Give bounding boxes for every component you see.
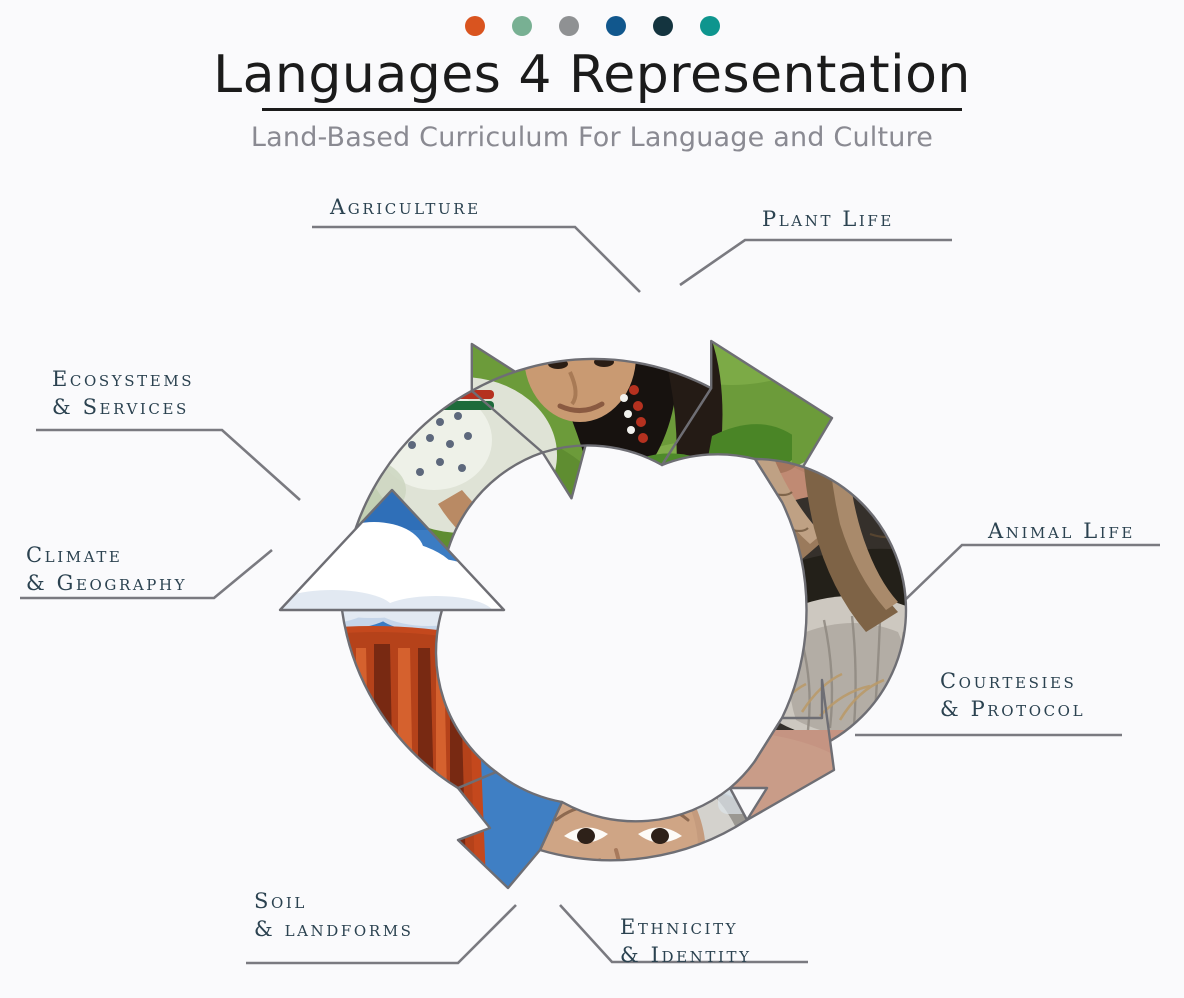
label-soil-line2: & landforms xyxy=(254,916,414,944)
label-courtesies[interactable]: Courtesies & Protocol xyxy=(940,668,1085,723)
label-animal-life-line1: Animal Life xyxy=(988,518,1135,546)
label-climate[interactable]: Climate & Geography xyxy=(26,542,187,597)
dot-blue xyxy=(606,16,626,36)
dot-sage-green xyxy=(512,16,532,36)
label-ecosystems[interactable]: Ecosystems & Services xyxy=(52,366,194,421)
label-ethnicity-line2: & Identity xyxy=(620,942,752,970)
label-agriculture-line1: Agriculture xyxy=(330,194,481,222)
color-dot-row xyxy=(0,16,1184,36)
label-ecosystems-line1: Ecosystems xyxy=(52,366,194,394)
label-plant-life-line1: Plant Life xyxy=(762,206,894,234)
cycle-wheel-diagram xyxy=(222,240,962,980)
label-climate-line1: Climate xyxy=(26,542,187,570)
label-soil[interactable]: Soil & landforms xyxy=(254,888,414,943)
page-title: Languages 4 Representation xyxy=(0,48,1184,103)
label-ecosystems-line2: & Services xyxy=(52,394,194,422)
dot-orange xyxy=(465,16,485,36)
segment-climate[interactable] xyxy=(342,610,496,788)
label-ethnicity-line1: Ethnicity xyxy=(620,914,752,942)
label-ethnicity[interactable]: Ethnicity & Identity xyxy=(620,914,752,969)
poster-canvas: Languages 4 Representation Land-Based Cu… xyxy=(0,0,1184,998)
arrowhead-soil[interactable] xyxy=(458,772,562,888)
label-animal-life[interactable]: Animal Life xyxy=(988,518,1135,546)
label-plant-life[interactable]: Plant Life xyxy=(762,206,894,234)
label-climate-line2: & Geography xyxy=(26,570,187,598)
dot-teal xyxy=(700,16,720,36)
arrowhead-ecosystems[interactable] xyxy=(280,490,504,610)
segment-animal-life[interactable] xyxy=(755,459,906,761)
segment-ethnicity[interactable] xyxy=(540,788,747,860)
dot-dark-teal xyxy=(653,16,673,36)
dot-grey xyxy=(559,16,579,36)
label-courtesies-line1: Courtesies xyxy=(940,668,1085,696)
label-courtesies-line2: & Protocol xyxy=(940,696,1085,724)
label-agriculture[interactable]: Agriculture xyxy=(330,194,481,222)
label-soil-line1: Soil xyxy=(254,888,414,916)
page-subtitle: Land-Based Curriculum For Language and C… xyxy=(0,122,1184,153)
title-underline xyxy=(262,108,962,111)
